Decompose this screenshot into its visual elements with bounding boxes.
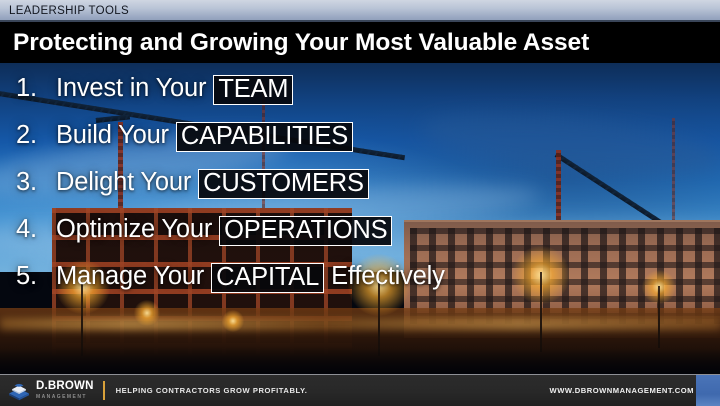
photo-bottom-vignette <box>0 348 720 374</box>
page-title: Protecting and Growing Your Most Valuabl… <box>13 29 589 57</box>
title-band: Protecting and Growing Your Most Valuabl… <box>0 22 720 63</box>
footer-bar: D.BROWN MANAGEMENT HELPING CONTRACTORS G… <box>0 374 720 406</box>
slide-canvas: LEADERSHIP TOOLS Protecting and Growing … <box>0 0 720 406</box>
brand-name: D.BROWN <box>36 381 94 393</box>
list-item-keyword: OPERATIONS <box>219 216 392 246</box>
list-item-keyword: TEAM <box>213 75 293 105</box>
list-item-prefix: Invest in Your <box>56 74 206 103</box>
list-item-number: 5. <box>16 262 56 291</box>
list-item-number: 1. <box>16 74 56 103</box>
street-lamp-glow <box>222 310 244 332</box>
footer-website-url[interactable]: WWW.DBROWNMANAGEMENT.COM <box>550 386 694 395</box>
list-item-prefix: Optimize Your <box>56 215 212 244</box>
eyebrow-label: LEADERSHIP TOOLS <box>9 5 129 17</box>
numbered-list: 1. Invest in Your TEAM 2. Build Your CAP… <box>0 74 720 309</box>
list-item-number: 4. <box>16 215 56 244</box>
list-item-keyword: CAPITAL <box>211 263 324 293</box>
stacked-books-logo-icon <box>8 381 30 401</box>
list-item-prefix: Manage Your <box>56 262 204 291</box>
list-item-number: 3. <box>16 168 56 197</box>
eyebrow-bar: LEADERSHIP TOOLS <box>0 0 720 22</box>
list-item: 3. Delight Your CUSTOMERS <box>16 168 720 215</box>
list-item: 2. Build Your CAPABILITIES <box>16 121 720 168</box>
brand-subtitle: MANAGEMENT <box>36 395 94 400</box>
list-item-prefix: Build Your <box>56 121 169 150</box>
list-item-suffix: Effectively <box>331 262 445 291</box>
list-item: 4. Optimize Your OPERATIONS <box>16 215 720 262</box>
list-item-keyword: CUSTOMERS <box>198 169 369 199</box>
corner-accent-block <box>696 375 720 406</box>
footer-tagline: HELPING CONTRACTORS GROW PROFITABLY. <box>116 386 308 395</box>
list-item-prefix: Delight Your <box>56 168 191 197</box>
footer-divider <box>103 381 105 400</box>
list-item: 5. Manage Your CAPITAL Effectively <box>16 262 720 309</box>
list-item: 1. Invest in Your TEAM <box>16 74 720 121</box>
list-item-keyword: CAPABILITIES <box>176 122 353 152</box>
list-item-number: 2. <box>16 121 56 150</box>
brand-wordmark: D.BROWN MANAGEMENT <box>36 381 94 400</box>
brand-logo[interactable]: D.BROWN MANAGEMENT <box>8 381 94 401</box>
